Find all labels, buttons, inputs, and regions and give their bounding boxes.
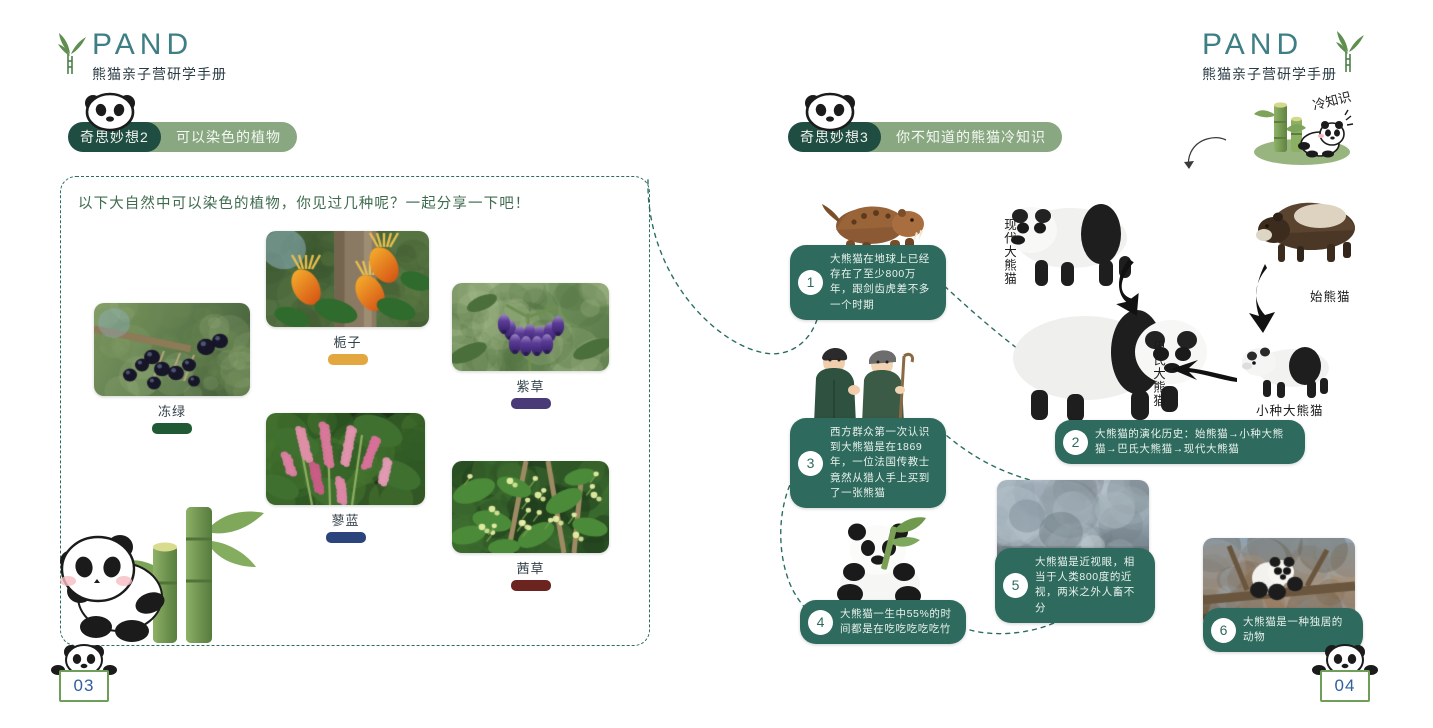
- fact-number: 2: [1063, 430, 1088, 455]
- fact-number: 3: [798, 451, 823, 476]
- plant-color-swatch: [511, 398, 551, 409]
- fact-text: 大熊猫一生中55%的时间都是在吃吃吃吃吃竹: [840, 607, 952, 637]
- fact-number: 5: [1003, 573, 1028, 598]
- plant-name: 紫草: [452, 376, 609, 395]
- plant-color-swatch: [511, 580, 551, 591]
- page-number-badge: 04: [1306, 652, 1384, 708]
- fact-number: 4: [808, 610, 833, 635]
- panda-bamboo-cold-facts-illustration: 冷知识: [1244, 88, 1356, 168]
- evo-label-ailurarctos: 始熊猫: [1310, 286, 1351, 305]
- fact-text: 大熊猫的演化历史：始熊猫→小种大熊猫→巴氏大熊猫→现代大熊猫: [1095, 427, 1291, 457]
- plant-name: 蓼蓝: [266, 510, 425, 529]
- fact-bubble[interactable]: 1 大熊猫在地球上已经存在了至少800万年，跟剑齿虎差不多一个时期: [790, 245, 946, 320]
- fact-bubble[interactable]: 5 大熊猫是近视眼，相当于人类800度的近视，两米之外人畜不分: [995, 548, 1155, 623]
- ailurarctos-figure: [1256, 203, 1355, 262]
- section-title-right: 你不知道的熊猫冷知识: [850, 122, 1062, 152]
- brand-subtitle: 熊猫亲子营研学手册: [92, 64, 227, 84]
- evo-label-modern-panda: 现代大熊猫: [1000, 218, 1019, 286]
- modern-panda-figure: [1005, 204, 1131, 286]
- pygmaeus-figure: [1242, 347, 1329, 398]
- bamboo-icon: [1332, 26, 1366, 72]
- plant-card[interactable]: 蓼蓝: [266, 413, 425, 543]
- brand-word: PAND: [92, 30, 227, 60]
- plant-card[interactable]: 茜草: [452, 461, 609, 591]
- panda-evolution-diagram: [975, 190, 1385, 435]
- plant-color-swatch: [152, 423, 192, 434]
- page-number-badge: 03: [45, 652, 123, 708]
- evo-label-pygmaeus: 小种大熊猫: [1256, 400, 1324, 419]
- brand-subtitle: 熊猫亲子营研学手册: [1202, 64, 1337, 84]
- plant-card[interactable]: 紫草: [452, 283, 609, 409]
- panda-eating-bamboo-photo: [826, 510, 938, 608]
- fact-bubble[interactable]: 2 大熊猫的演化历史：始熊猫→小种大熊猫→巴氏大熊猫→现代大熊猫: [1055, 420, 1305, 464]
- fact-text: 大熊猫在地球上已经存在了至少800万年，跟剑齿虎差不多一个时期: [830, 252, 932, 313]
- brand-word: PAND: [1202, 30, 1337, 60]
- fact-bubble[interactable]: 4 大熊猫一生中55%的时间都是在吃吃吃吃吃竹: [800, 600, 966, 644]
- panel-question-text: 以下大自然中可以染色的植物，你见过几种呢？一起分享一下吧！: [78, 192, 530, 213]
- plant-card[interactable]: 栀子: [266, 231, 429, 365]
- evo-label-baconi: 巴氏大熊猫: [1149, 340, 1168, 408]
- fact-number: 6: [1211, 618, 1236, 643]
- page-number: 03: [59, 670, 109, 702]
- pink-knotweed-photo: [266, 413, 425, 505]
- plant-name: 冻绿: [94, 401, 250, 420]
- section-header-left: 可以染色的植物 奇思妙想2: [68, 122, 161, 152]
- panda-head-icon: [802, 90, 860, 130]
- berries-photo: [94, 303, 250, 396]
- plant-color-swatch: [328, 354, 368, 365]
- plant-name: 栀子: [266, 332, 429, 351]
- brand-logo-left: PAND 熊猫亲子营研学手册: [92, 30, 227, 84]
- plant-color-swatch: [326, 532, 366, 543]
- baconi-figure: [1013, 310, 1207, 422]
- madder-vine-photo: [452, 461, 609, 553]
- section-header-right: 你不知道的熊猫冷知识 奇思妙想3: [788, 122, 881, 152]
- fact-text: 西方群众第一次认识到大熊猫是在1869年，一位法国传教士竟然从猎人手上买到了一张…: [830, 425, 932, 501]
- curved-arrow-icon: [1182, 136, 1228, 172]
- fact-bubble[interactable]: 3 西方群众第一次认识到大熊猫是在1869年，一位法国传教士竟然从猎人手上买到了…: [790, 418, 946, 508]
- spread-page: PAND 熊猫亲子营研学手册 PAND 熊猫亲子营研学手册: [0, 0, 1433, 728]
- fact-text: 大熊猫是近视眼，相当于人类800度的近视，两米之外人畜不分: [1035, 555, 1141, 616]
- purple-flower-photo: [452, 283, 609, 371]
- panda-head-icon: [82, 90, 140, 130]
- gardenia-fruit-photo: [266, 231, 429, 327]
- page-number: 04: [1320, 670, 1370, 702]
- bamboo-icon: [54, 28, 88, 74]
- fact-number: 1: [798, 270, 823, 295]
- panda-with-bamboo-illustration: [58, 505, 270, 645]
- plant-card[interactable]: 冻绿: [94, 303, 250, 434]
- brand-logo-right: PAND 熊猫亲子营研学手册: [1202, 30, 1337, 84]
- hero-label: 冷知识: [1311, 89, 1352, 113]
- missionary-hunter-illustration: [800, 338, 928, 426]
- plant-name: 茜草: [452, 558, 609, 577]
